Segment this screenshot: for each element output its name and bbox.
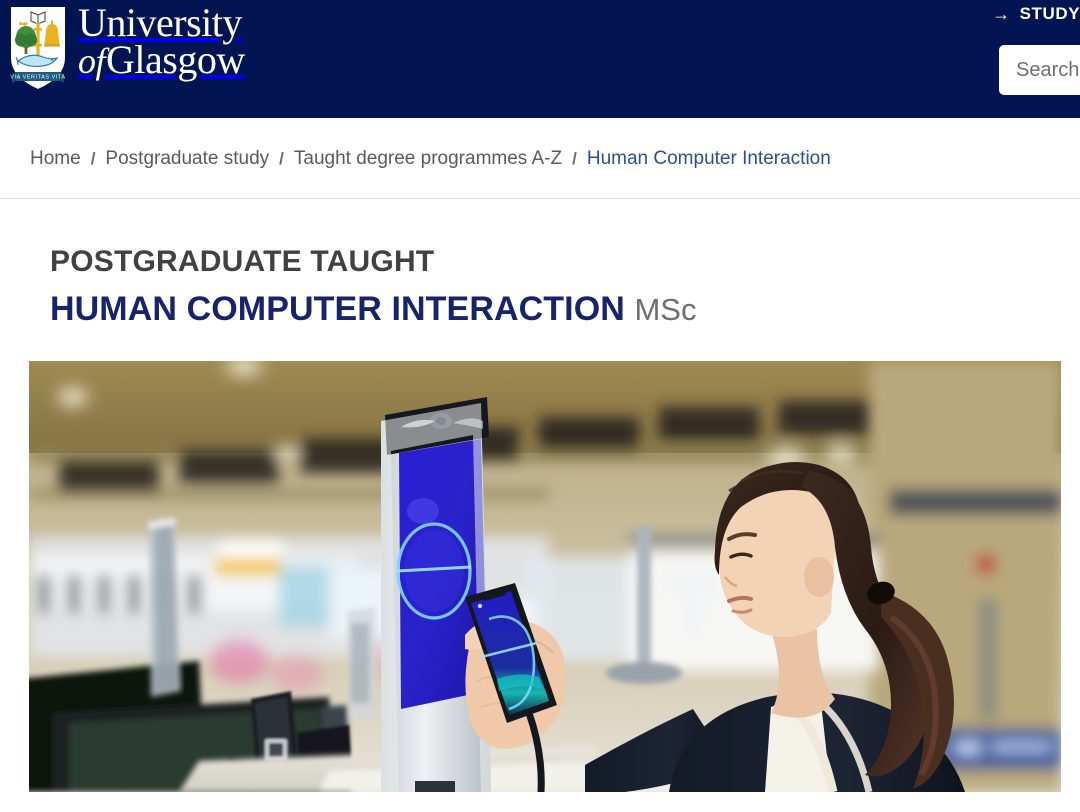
breadcrumb-separator: / [562, 150, 587, 167]
hero-banner-image [29, 361, 1061, 792]
search-input[interactable] [999, 45, 1080, 95]
university-crest-icon: VIA VERITAS VITA [8, 4, 68, 92]
page-title-block: POSTGRADUATE TAUGHT HUMAN COMPUTER INTER… [0, 199, 1080, 328]
page-title-award: MSc [634, 292, 696, 327]
breadcrumb: Home / Postgraduate study / Taught degre… [30, 149, 831, 168]
logo-word-glasgow: Glasgow [106, 37, 245, 82]
breadcrumb-bar: Home / Postgraduate study / Taught degre… [0, 118, 1080, 199]
hero-image-graphic [29, 361, 1061, 792]
page-title: HUMAN COMPUTER INTERACTION MSc [50, 291, 1080, 328]
study-link[interactable]: → STUDY [992, 4, 1080, 24]
breadcrumb-item-taught-degree-programmes[interactable]: Taught degree programmes A-Z [294, 149, 562, 168]
breadcrumb-item-current[interactable]: Human Computer Interaction [587, 149, 831, 168]
page-title-text: HUMAN COMPUTER INTERACTION [50, 290, 625, 328]
breadcrumb-separator: / [81, 150, 106, 167]
svg-text:VIA VERITAS VITA: VIA VERITAS VITA [10, 75, 65, 81]
logo-line-of-glasgow: ofGlasgow [78, 42, 245, 79]
logo-word-of: of [78, 41, 106, 81]
breadcrumb-item-home[interactable]: Home [30, 149, 81, 168]
main-content: POSTGRADUATE TAUGHT HUMAN COMPUTER INTER… [0, 199, 1080, 792]
breadcrumb-separator: / [269, 150, 294, 167]
page-kicker: POSTGRADUATE TAUGHT [50, 245, 1080, 280]
arrow-right-icon: → [992, 5, 1011, 23]
site-logo-link[interactable]: VIA VERITAS VITA University ofGlasgow [8, 4, 245, 96]
site-header: VIA VERITAS VITA University ofGlasgow → … [0, 0, 1080, 118]
breadcrumb-item-postgraduate-study[interactable]: Postgraduate study [105, 149, 269, 168]
site-logo-wordmark: University ofGlasgow [78, 4, 245, 79]
study-link-label: STUDY [1020, 4, 1080, 24]
